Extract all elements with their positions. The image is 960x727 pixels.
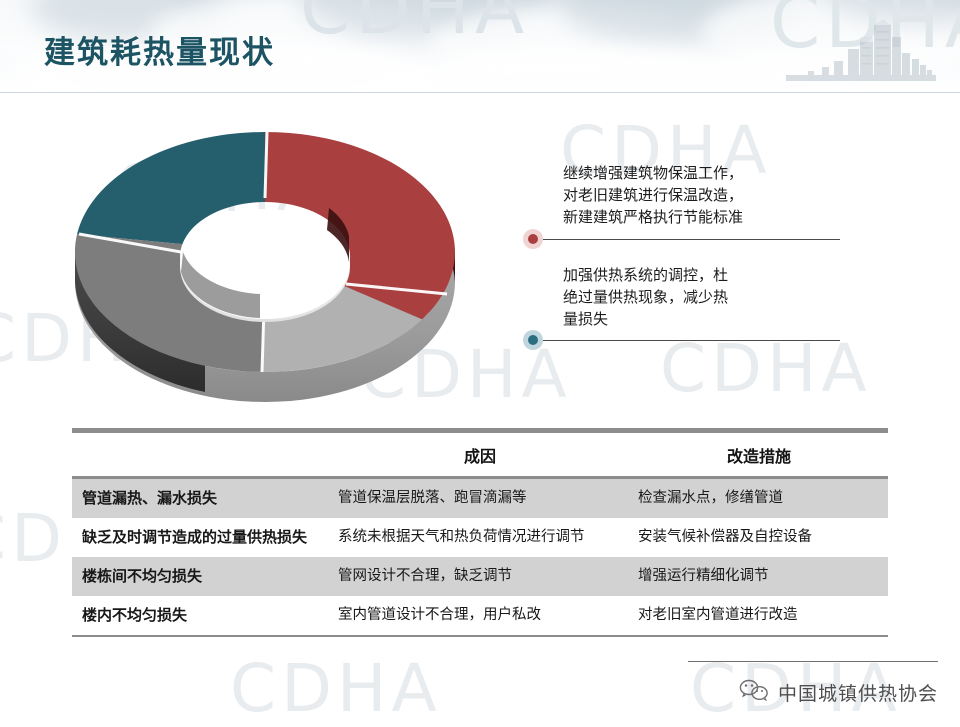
- annotation-regulation-marker[interactable]: [523, 330, 543, 350]
- annotation-regulation-text: 加强供热系统的调控，杜 绝过量供热现象，减少热 量损失: [563, 264, 728, 330]
- table-cell-category: 楼栋间不均匀损失: [72, 557, 330, 596]
- watermark: CDHA: [230, 650, 442, 727]
- table-cell-cause: 管网设计不合理，缺乏调节: [330, 557, 630, 596]
- table-row: 楼内不均匀损失 室内管道设计不合理，用户私改 对老旧室内管道进行改造: [72, 596, 888, 635]
- table-cell-category: 缺乏及时调节造成的过量供热损失: [72, 518, 330, 557]
- annotation-insulation-text: 继续增强建筑物保温工作， 对老旧建筑进行保温改造， 新建建筑严格执行节能标准: [563, 162, 743, 228]
- table-cell-measure: 增强运行精细化调节: [630, 557, 888, 596]
- slide-canvas: CDHA CDHA: [0, 0, 960, 720]
- table-row: 管道漏热、漏水损失 管道保温层脱落、跑冒滴漏等 检查漏水点，修缮管道: [72, 479, 888, 518]
- doughnut-chart: [55, 112, 475, 412]
- table-cell-category: 管道漏热、漏水损失: [72, 479, 330, 518]
- table-cell-measure: 对老旧室内管道进行改造: [630, 596, 888, 635]
- annotation-regulation-rule: [543, 340, 840, 341]
- page-title: 建筑耗热量现状: [44, 27, 275, 72]
- city-skyline-icon: [786, 19, 936, 85]
- wechat-icon: [739, 678, 769, 706]
- header-divider: [0, 92, 960, 93]
- annotation-insulation-rule: [543, 239, 840, 240]
- table-cell-cause: 系统未根据天气和热负荷情况进行调节: [330, 518, 630, 557]
- table-cell-cause: 管道保温层脱落、跑冒滴漏等: [330, 479, 630, 518]
- table-cell-cause: 室内管道设计不合理，用户私改: [330, 596, 630, 635]
- table-bottom-rule: [72, 635, 888, 637]
- footer: 中国城镇供热协会: [739, 678, 938, 706]
- table-cell-measure: 检查漏水点，修缮管道: [630, 479, 888, 518]
- slide-header: CDHA CDHA: [0, 0, 960, 93]
- table-row: 缺乏及时调节造成的过量供热损失 系统未根据天气和热负荷情况进行调节 安装气候补偿…: [72, 518, 888, 557]
- annotation-insulation-marker[interactable]: [523, 229, 543, 249]
- footer-divider: [688, 661, 938, 662]
- watermark: CDHA: [660, 330, 872, 407]
- table-header-blank: [72, 432, 330, 476]
- table-cell-measure: 安装气候补偿器及自控设备: [630, 518, 888, 557]
- table-row: 楼栋间不均匀损失 管网设计不合理，缺乏调节 增强运行精细化调节: [72, 557, 888, 596]
- table-header-cause: 成因: [330, 432, 630, 476]
- measures-table: 成因 改造措施 管道漏热、漏水损失 管道保温层脱落、跑冒滴漏等 检查漏水点，修缮…: [72, 428, 888, 637]
- table-cell-category: 楼内不均匀损失: [72, 596, 330, 635]
- table-header-row: 成因 改造措施: [72, 432, 888, 476]
- table-header-measure: 改造措施: [630, 432, 888, 476]
- footer-label: 中国城镇供热协会: [778, 679, 938, 706]
